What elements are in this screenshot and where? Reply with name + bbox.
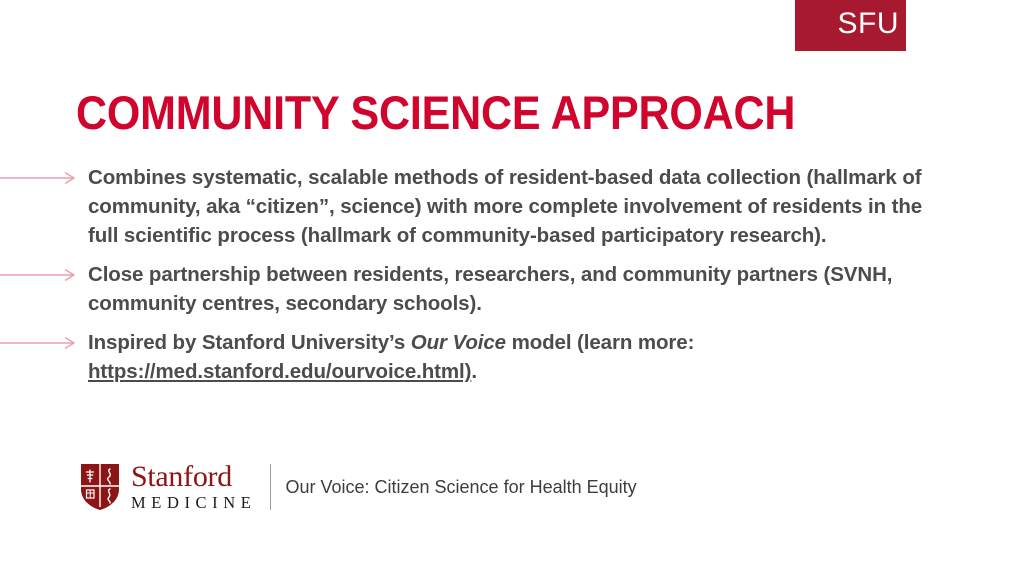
bullet-text: Inspired by Stanford University’s Our Vo… (88, 328, 946, 386)
bullet-text-tail: . (471, 360, 477, 383)
bullet-text: Close partnership between residents, res… (88, 260, 946, 318)
bullet-list: Combines systematic, scalable methods of… (0, 163, 1024, 396)
stanford-shield-icon (80, 463, 120, 511)
bullet-text-italic: Our Voice (411, 331, 506, 354)
footer-tagline: Our Voice: Citizen Science for Health Eq… (285, 477, 636, 498)
list-item: Combines systematic, scalable methods of… (0, 163, 1024, 250)
page-title: COMMUNITY SCIENCE APPROACH (76, 88, 795, 137)
list-item: Inspired by Stanford University’s Our Vo… (0, 328, 1024, 386)
footer: Stanford MEDICINE Our Voice: Citizen Sci… (80, 461, 637, 513)
list-item: Close partnership between residents, res… (0, 260, 1024, 318)
arrow-right-icon (0, 268, 78, 282)
bullet-text-middle: model (learn more: (506, 331, 694, 354)
medicine-word: MEDICINE (131, 493, 256, 512)
sfu-logo: SFU (795, 0, 906, 51)
arrow-right-icon (0, 171, 78, 185)
bullet-text-lead: Inspired by Stanford University’s (88, 331, 411, 354)
footer-divider (270, 464, 271, 510)
bullet-text: Combines systematic, scalable methods of… (88, 163, 946, 250)
ourvoice-link[interactable]: https://med.stanford.edu/ourvoice.html) (88, 360, 471, 383)
stanford-word: Stanford (131, 463, 256, 491)
arrow-right-icon (0, 336, 78, 350)
sfu-logo-text: SFU (838, 9, 900, 42)
stanford-medicine-wordmark: Stanford MEDICINE (131, 463, 256, 512)
slide-canvas: SFU COMMUNITY SCIENCE APPROACH Combines … (0, 0, 1024, 576)
